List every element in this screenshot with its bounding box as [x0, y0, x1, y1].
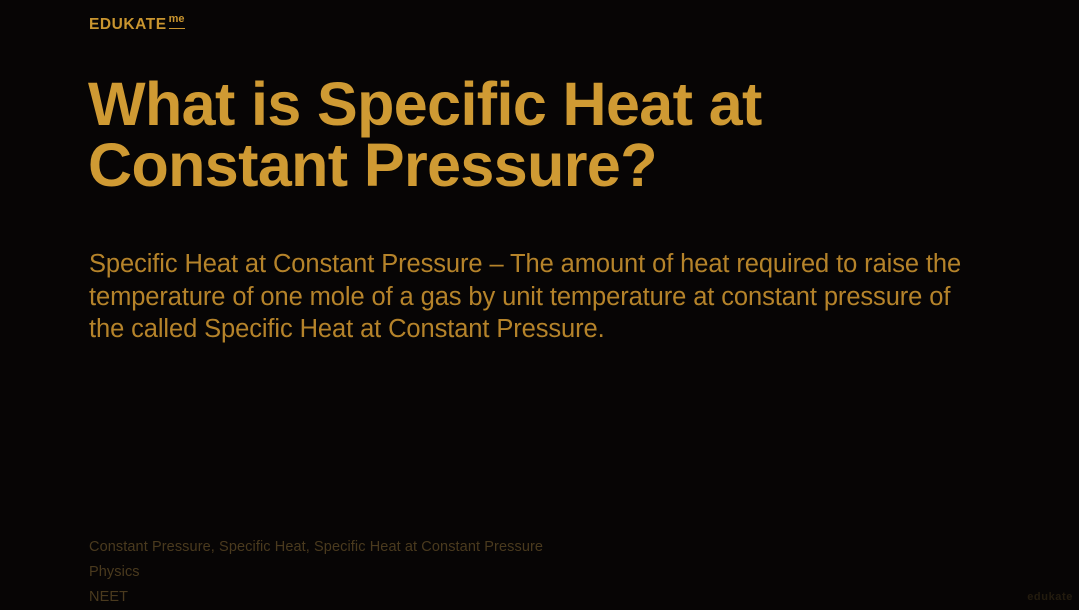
slide-body-text: Specific Heat at Constant Pressure – The… [89, 248, 969, 346]
slide-canvas: EDUKATE me What is Specific Heat at Cons… [0, 0, 1079, 607]
brand-logo-word: EDUKATE [89, 15, 167, 34]
watermark-label: edukate [1027, 591, 1073, 603]
footer-tag-keywords: Constant Pressure, Specific Heat, Specif… [89, 535, 543, 560]
footer-tags: Constant Pressure, Specific Heat, Specif… [89, 535, 543, 610]
footer-tag-exam: NEET [89, 585, 543, 610]
slide-title: What is Specific Heat at Constant Pressu… [88, 74, 1018, 196]
footer-tag-subject: Physics [89, 560, 543, 585]
brand-logo-superscript: me [169, 14, 185, 29]
brand-logo[interactable]: EDUKATE me [89, 15, 185, 34]
